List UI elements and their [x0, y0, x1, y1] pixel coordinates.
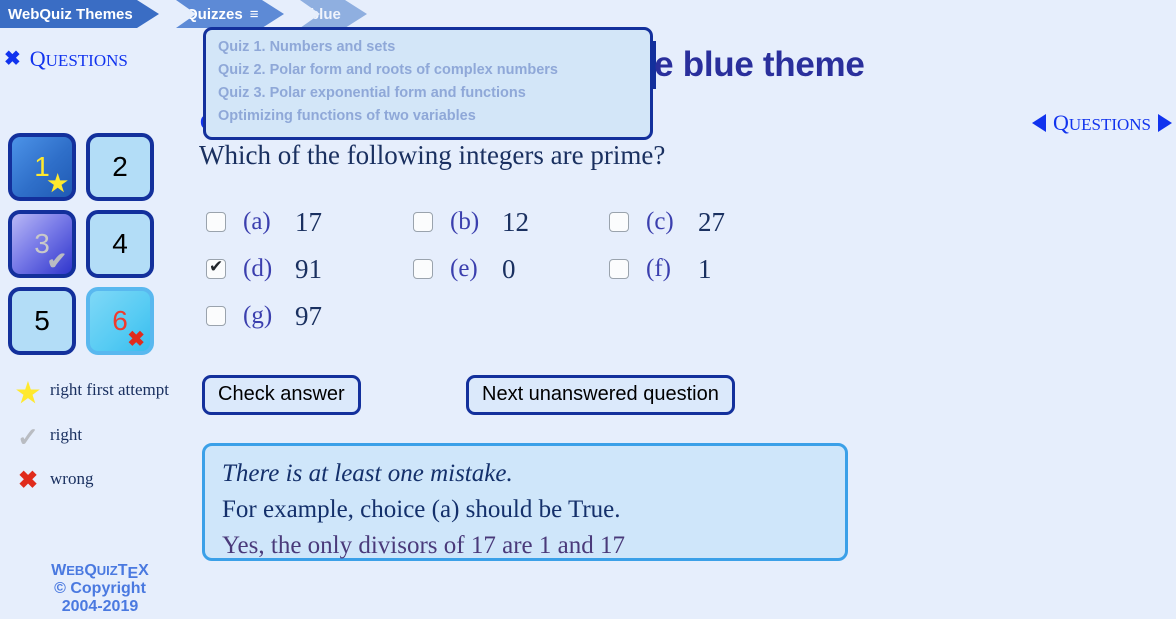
brand-wordmark: WEBQUIZTEX — [0, 562, 200, 580]
quizzes-dropdown-menu[interactable]: Quiz 1. Numbers and sets Quiz 2. Polar f… — [203, 27, 653, 140]
question-button-4[interactable]: 4 — [86, 210, 154, 278]
breadcrumb-notch-icon — [176, 0, 196, 28]
legend-row-right: ✓ right — [6, 423, 191, 453]
dropdown-item-optimizing[interactable]: Optimizing functions of two variables — [206, 105, 650, 128]
breadcrumb-chevron-icon — [137, 0, 159, 28]
question-button-3[interactable]: 3 ✔ — [8, 210, 76, 278]
star-icon: ★ — [47, 172, 68, 195]
choice-d[interactable]: (d) 91 — [206, 250, 413, 288]
copyright-years: 2004-2019 — [0, 598, 200, 616]
choice-row: (d) 91 (e) 0 (f) 1 — [206, 250, 826, 288]
feedback-line-2: For example, choice (a) should be True. — [222, 492, 845, 528]
question-button-5[interactable]: 5 — [8, 287, 76, 355]
choice-d-label: (d) — [243, 255, 295, 283]
choice-a-value: 17 — [295, 207, 322, 238]
breadcrumb-themes-label: WebQuiz Themes — [8, 6, 133, 23]
status-legend: ★ right first attempt ✓ right ✖ wrong — [6, 378, 191, 509]
choice-g-checkbox[interactable] — [206, 306, 226, 326]
question-button-number: 4 — [90, 228, 150, 260]
choice-e-checkbox[interactable] — [413, 259, 433, 279]
breadcrumb-notch-icon — [300, 0, 320, 28]
choice-b-label: (b) — [450, 208, 502, 236]
choice-a[interactable]: (a) 17 — [206, 203, 413, 241]
choice-f-value: 1 — [698, 254, 712, 285]
question-navigation: QUESTIONS — [1032, 110, 1172, 136]
choice-c-label: (c) — [646, 208, 698, 236]
sidebar-questions-label: QUESTIONS — [30, 46, 128, 72]
breadcrumb-chevron-icon — [262, 0, 284, 28]
dropdown-item-quiz-2[interactable]: Quiz 2. Polar form and roots of complex … — [206, 59, 650, 82]
choice-list: (a) 17 (b) 12 (c) 27 (d) 91 (e) 0 (f) 1 — [206, 203, 826, 344]
choice-row: (a) 17 (b) 12 (c) 27 — [206, 203, 826, 241]
question-button-row: 5 6 ✖ — [8, 287, 168, 355]
copyright-text: © Copyright — [0, 580, 200, 598]
breadcrumb-item-themes[interactable]: WebQuiz Themes — [0, 0, 159, 28]
dropdown-item-quiz-3[interactable]: Quiz 3. Polar exponential form and funct… — [206, 82, 650, 105]
legend-row-wrong: ✖ wrong — [6, 467, 191, 495]
breadcrumb: WebQuiz Themes Quizzes ≡ blue — [0, 0, 1176, 28]
question-button-row: 1 ★ 2 — [8, 133, 168, 201]
feedback-panel: There is at least one mistake. For examp… — [202, 443, 848, 561]
choice-f-label: (f) — [646, 255, 698, 283]
question-button-2[interactable]: 2 — [86, 133, 154, 201]
dropdown-item-quiz-1[interactable]: Quiz 1. Numbers and sets — [206, 36, 650, 59]
question-button-number: 2 — [90, 151, 150, 183]
feedback-line-1: There is at least one mistake. — [222, 456, 845, 492]
choice-d-checkbox[interactable] — [206, 259, 226, 279]
choice-e-label: (e) — [450, 255, 502, 283]
close-icon[interactable]: ✖ — [4, 49, 21, 69]
check-answer-button[interactable]: Check answer — [202, 375, 361, 415]
choice-b[interactable]: (b) 12 — [413, 203, 609, 241]
choice-c[interactable]: (c) 27 — [609, 203, 809, 241]
choice-b-value: 12 — [502, 207, 529, 238]
choice-e[interactable]: (e) 0 — [413, 250, 609, 288]
question-text: Which of the following integers are prim… — [199, 140, 665, 171]
check-icon: ✓ — [6, 423, 50, 453]
cross-icon: ✖ — [6, 467, 50, 495]
check-icon: ✔ — [47, 250, 67, 274]
question-button-grid: 1 ★ 2 3 ✔ 4 5 6 ✖ — [8, 133, 168, 364]
sidebar-questions-header: ✖ QUESTIONS — [4, 46, 128, 72]
choice-a-checkbox[interactable] — [206, 212, 226, 232]
previous-question-icon[interactable] — [1032, 114, 1046, 132]
question-button-number: 5 — [12, 305, 72, 337]
question-button-1[interactable]: 1 ★ — [8, 133, 76, 201]
next-unanswered-question-button[interactable]: Next unanswered question — [466, 375, 735, 415]
next-question-icon[interactable] — [1158, 114, 1172, 132]
legend-label: wrong — [50, 467, 93, 489]
choice-f-checkbox[interactable] — [609, 259, 629, 279]
cross-icon: ✖ — [127, 329, 145, 350]
hamburger-menu-icon[interactable]: ≡ — [250, 7, 259, 22]
question-button-6[interactable]: 6 ✖ — [86, 287, 154, 355]
choice-a-label: (a) — [243, 208, 295, 236]
choice-f[interactable]: (f) 1 — [609, 250, 809, 288]
star-icon: ★ — [6, 378, 50, 409]
footer-copyright: WEBQUIZTEX © Copyright 2004-2019 — [0, 562, 200, 616]
choice-g[interactable]: (g) 97 — [206, 297, 413, 335]
feedback-line-3: Yes, the only divisors of 17 are 1 and 1… — [222, 528, 845, 564]
choice-e-value: 0 — [502, 254, 516, 285]
breadcrumb-chevron-icon — [345, 0, 367, 28]
choice-b-checkbox[interactable] — [413, 212, 433, 232]
legend-row-right-first: ★ right first attempt — [6, 378, 191, 409]
choice-c-value: 27 — [698, 207, 725, 238]
choice-g-value: 97 — [295, 301, 322, 332]
choice-g-label: (g) — [243, 302, 295, 330]
question-button-row: 3 ✔ 4 — [8, 210, 168, 278]
choice-c-checkbox[interactable] — [609, 212, 629, 232]
qnav-label[interactable]: QUESTIONS — [1053, 110, 1151, 136]
choice-d-value: 91 — [295, 254, 322, 285]
legend-label: right first attempt — [50, 378, 169, 400]
choice-row: (g) 97 — [206, 297, 826, 335]
legend-label: right — [50, 423, 82, 445]
